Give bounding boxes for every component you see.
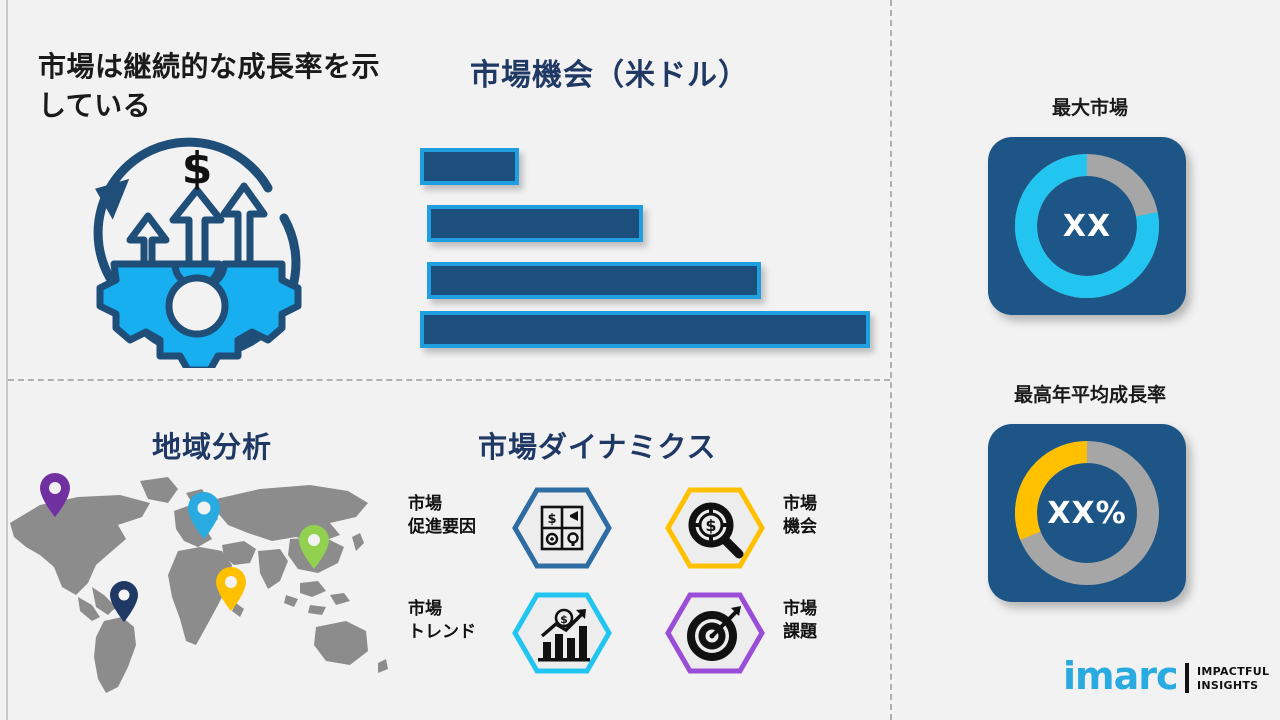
infographic-slide: 市場は継続的な成長率を示している $ 市場機会（米ドル） bbox=[0, 0, 1280, 720]
bar-2 bbox=[427, 205, 643, 242]
bar-3 bbox=[427, 262, 761, 299]
horizontal-dashed-divider bbox=[8, 379, 890, 381]
world-map bbox=[0, 455, 400, 700]
dynamics-item-trends[interactable]: 市場 トレンド $ bbox=[408, 592, 638, 674]
dynamics-label-trends: 市場 トレンド bbox=[408, 598, 500, 645]
logo-tagline: IMPACTFUL INSIGHTS bbox=[1197, 665, 1269, 694]
growth-panel-title: 市場は継続的な成長率を示している bbox=[38, 48, 388, 125]
dynamics-label-drivers: 市場 促進要因 bbox=[408, 493, 500, 540]
svg-text:$: $ bbox=[182, 143, 213, 194]
pin-middle-east bbox=[216, 567, 246, 611]
dynamics-item-opportunities[interactable]: $ 市場 機会 bbox=[645, 487, 875, 569]
imarc-logo: imarc IMPACTFUL INSIGHTS bbox=[1063, 655, 1268, 705]
opportunity-panel-title: 市場機会（米ドル） bbox=[470, 50, 749, 94]
svg-text:$: $ bbox=[547, 512, 556, 527]
target-dart-icon bbox=[665, 592, 765, 674]
bar-1 bbox=[420, 148, 519, 185]
bar-chart-growth-icon: $ bbox=[512, 592, 612, 674]
vertical-dashed-divider bbox=[890, 0, 892, 720]
magnifier-dollar-icon: $ bbox=[665, 487, 765, 569]
cagr-title: 最高年平均成長率 bbox=[960, 380, 1220, 407]
growth-cycle-gear-icon: $ bbox=[72, 128, 322, 368]
svg-text:$: $ bbox=[560, 613, 568, 626]
dynamics-item-drivers[interactable]: 市場 促進要因 $ bbox=[408, 487, 638, 569]
largest-market-title: 最大市場 bbox=[960, 93, 1220, 120]
dynamics-panel-title: 市場ダイナミクス bbox=[478, 424, 717, 466]
cagr-value: XX% bbox=[988, 424, 1186, 602]
dynamics-label-opportunities: 市場 機会 bbox=[783, 493, 875, 540]
puzzle-strategy-icon: $ bbox=[512, 487, 612, 569]
pin-south-america bbox=[110, 581, 138, 622]
logo-separator bbox=[1185, 663, 1189, 693]
dynamics-label-challenges: 市場 課題 bbox=[783, 598, 875, 645]
svg-text:$: $ bbox=[705, 516, 716, 535]
largest-market-card: XX bbox=[988, 137, 1186, 315]
cagr-card: XX% bbox=[988, 424, 1186, 602]
logo-wordmark: imarc bbox=[1063, 657, 1178, 695]
dynamics-item-challenges[interactable]: 市場 課題 bbox=[645, 592, 875, 674]
bar-4 bbox=[420, 311, 870, 348]
largest-market-value: XX bbox=[988, 137, 1186, 315]
market-opportunity-bar-chart bbox=[420, 148, 890, 348]
